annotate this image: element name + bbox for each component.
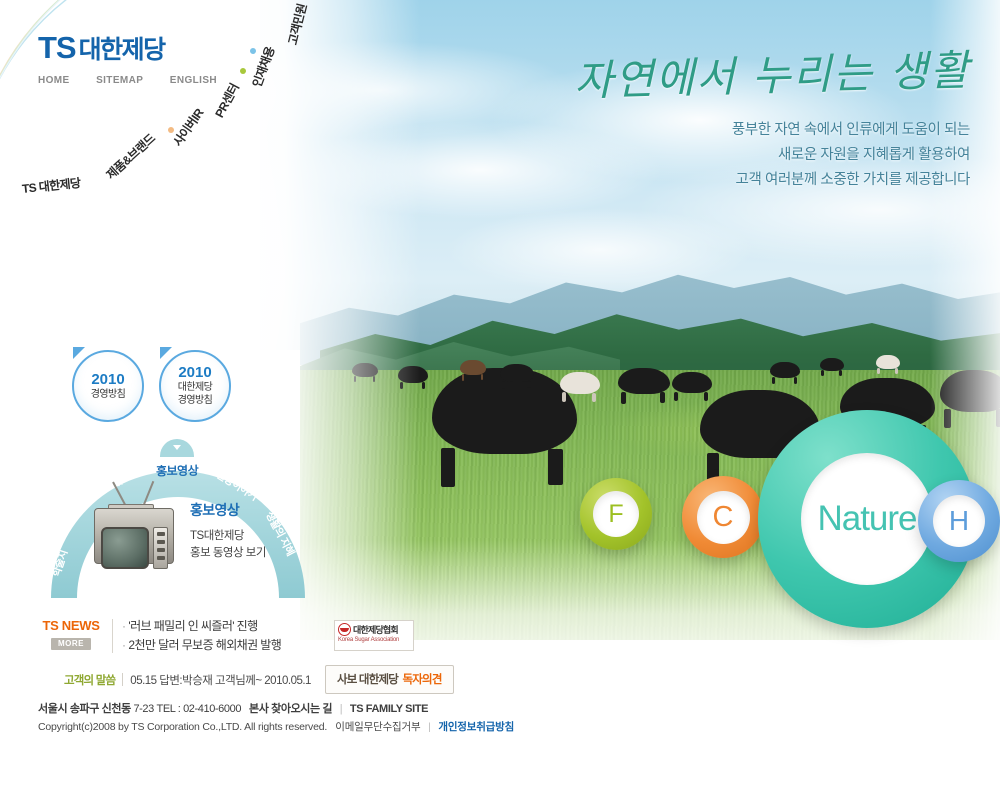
news-divider	[112, 619, 113, 653]
tv-control-panel	[153, 527, 168, 569]
customer-voice-bar: 고객의 말씀 05.15 답변:박승재 고객님께~ 2010.05.1 사보 대…	[64, 665, 454, 694]
bullet-icon: ·	[122, 619, 125, 633]
tv-knob	[157, 548, 165, 552]
nav-ts-daehan[interactable]: TS 대한제당	[21, 174, 81, 197]
magazine-button-part1: 사보 대한제당	[337, 674, 398, 686]
hero-subcopy: 풍부한 자연 속에서 인류에게 도움이 되는 새로운 자원을 지혜롭게 활용하여…	[732, 118, 970, 193]
footer-address-detail: 7-23	[133, 703, 153, 715]
footer-address: 서울시 송파구 신천동	[38, 703, 131, 715]
tv-knob	[157, 540, 165, 544]
ring-c-inner: C	[697, 491, 750, 544]
nav-sitemap[interactable]: SITEMAP	[96, 75, 143, 86]
tv-knob	[157, 532, 165, 536]
ring-f[interactable]: F	[580, 478, 652, 550]
policy-badges: 2010 경영방침 2010 대한제당 경영방침	[68, 345, 242, 423]
promo-fan-menu: 학술지 월간 브로슈어 홍보영상 설탕이야기 생활의 지혜 홍보영상 TS대한제…	[38, 448, 318, 598]
ts-news-list: ·'러브 패밀리 인 씨즐러' 진행 ·2천만 달러 무보증 해외채권 발행	[122, 617, 281, 655]
badge-circle: 2010 대한제당 경영방침	[159, 350, 231, 422]
ksa-english-name: Korea Sugar Association	[338, 637, 410, 643]
badge-2010-policy[interactable]: 2010 경영방침	[68, 345, 150, 423]
subcopy-line-3: 고객 여러분께 소중한 가치를 제공합니다	[732, 168, 970, 193]
footer-separator: |	[340, 703, 342, 715]
badge-circle: 2010 경영방침	[72, 350, 144, 422]
customer-voice-message[interactable]: 05.15 답변:박승재 고객님께~ 2010.05.1	[130, 672, 311, 688]
badge-label-line2: 경영방침	[178, 394, 212, 407]
site-footer: 서울시 송파구 신천동 7-23 TEL : 02-410-6000 본사 찾아…	[38, 700, 514, 736]
nav-products-brands[interactable]: 제품&브랜드	[102, 130, 158, 183]
ksa-logo-icon	[338, 623, 351, 636]
ring-h-inner: H	[933, 495, 985, 547]
fan-panel-desc-2[interactable]: 홍보 동영상 보기	[190, 545, 266, 562]
cow	[672, 372, 712, 393]
news-item[interactable]: ·2천만 달러 무보증 해외채권 발행	[122, 636, 281, 655]
cow	[618, 368, 670, 394]
nav-customer-service[interactable]: 고객민원	[284, 2, 311, 47]
footer-line-1: 서울시 송파구 신천동 7-23 TEL : 02-410-6000 본사 찾아…	[38, 700, 514, 718]
news-item-text: '러브 패밀리 인 씨즐러' 진행	[128, 619, 257, 633]
footer-directions-link[interactable]: 본사 찾아오시는 길	[249, 703, 332, 715]
badge-corner-icon	[73, 347, 85, 359]
ring-c-letter: C	[713, 501, 734, 534]
site-logo[interactable]: TS대한제당	[38, 30, 165, 66]
news-item[interactable]: ·'러브 패밀리 인 씨즐러' 진행	[122, 617, 281, 636]
nav-recruit[interactable]: 인재채용	[248, 44, 278, 89]
bullet-icon: ·	[122, 638, 125, 652]
ring-nature-label: Nature	[817, 499, 916, 539]
cow	[876, 355, 900, 369]
fan-panel-desc-1: TS대한제당	[190, 528, 266, 545]
tv-body	[94, 508, 174, 564]
footer-tel: TEL : 02-410-6000	[157, 703, 242, 715]
hero-slogan: 자연에서 누리는 생활	[573, 36, 971, 108]
magazine-button-part2: 독자의견	[402, 674, 441, 686]
nature-rings-group: F C Nature H	[570, 408, 1000, 653]
footer-copyright: Copyright(c)2008 by TS Corporation Co.,L…	[38, 721, 327, 733]
tv-screen	[101, 527, 149, 569]
nav-cyber-ir[interactable]: 사이버IR	[169, 105, 207, 149]
cow	[500, 364, 534, 382]
footer-privacy-link[interactable]: 개인정보취급방침	[438, 721, 514, 733]
fan-item-promo-video[interactable]: 홍보영상	[156, 462, 198, 480]
ring-c[interactable]: C	[682, 476, 764, 558]
ring-h[interactable]: H	[918, 480, 1000, 562]
badge-label: 경영방침	[91, 388, 125, 401]
cow	[770, 362, 800, 378]
customer-voice-label: 고객의 말씀	[64, 672, 115, 688]
ts-news-title: TS NEWS	[38, 618, 104, 633]
badge-corner-icon	[160, 347, 172, 359]
badge-2010-daehan-policy[interactable]: 2010 대한제당 경영방침	[155, 345, 237, 423]
logo-ts-text: TS	[38, 30, 76, 65]
badge-year: 2010	[178, 365, 211, 381]
fan-panel-title: 홍보영상	[190, 500, 266, 520]
ring-f-inner: F	[593, 491, 639, 537]
cow	[560, 372, 600, 394]
ring-f-letter: F	[608, 500, 623, 529]
footer-family-site-link[interactable]: TS FAMILY SITE	[350, 703, 428, 715]
badge-label-line1: 대한제당	[178, 381, 212, 394]
customer-divider	[122, 673, 123, 686]
retro-tv-icon	[94, 496, 174, 564]
ksa-top-row: 대한제당협회	[338, 623, 410, 636]
subcopy-line-1: 풍부한 자연 속에서 인류에게 도움이 되는	[732, 118, 970, 143]
logo-korean-text: 대한제당	[79, 36, 165, 64]
fan-panel-text: 홍보영상 TS대한제당 홍보 동영상 보기	[190, 500, 266, 562]
korea-sugar-association-badge[interactable]: 대한제당협회 Korea Sugar Association	[334, 620, 414, 651]
subcopy-line-2: 새로운 자원을 지혜롭게 활용하여	[732, 143, 970, 168]
badge-year: 2010	[91, 372, 124, 388]
footer-line-2: Copyright(c)2008 by TS Corporation Co.,L…	[38, 718, 514, 736]
nav-english[interactable]: ENGLISH	[170, 75, 217, 86]
ring-nature-inner: Nature	[801, 453, 933, 585]
utility-nav: HOME SITEMAP ENGLISH	[38, 70, 239, 88]
nav-home[interactable]: HOME	[38, 75, 70, 86]
ksa-korean-name: 대한제당협회	[353, 623, 398, 636]
ts-news-more-button[interactable]: MORE	[51, 638, 91, 650]
tv-knob	[157, 556, 165, 560]
ring-h-letter: H	[949, 505, 969, 537]
footer-separator: |	[428, 721, 431, 733]
cow	[460, 360, 486, 375]
ts-news-header: TS NEWS MORE	[38, 618, 104, 651]
magazine-opinion-button[interactable]: 사보 대한제당 독자의견	[325, 665, 454, 694]
cow	[820, 358, 844, 371]
homepage-root: TS대한제당 HOME SITEMAP ENGLISH TS 대한제당 제품&브…	[0, 0, 1000, 797]
news-item-text: 2천만 달러 무보증 해외채권 발행	[128, 638, 281, 652]
footer-email-refuse-link[interactable]: 이메일무단수집거부	[335, 721, 420, 733]
